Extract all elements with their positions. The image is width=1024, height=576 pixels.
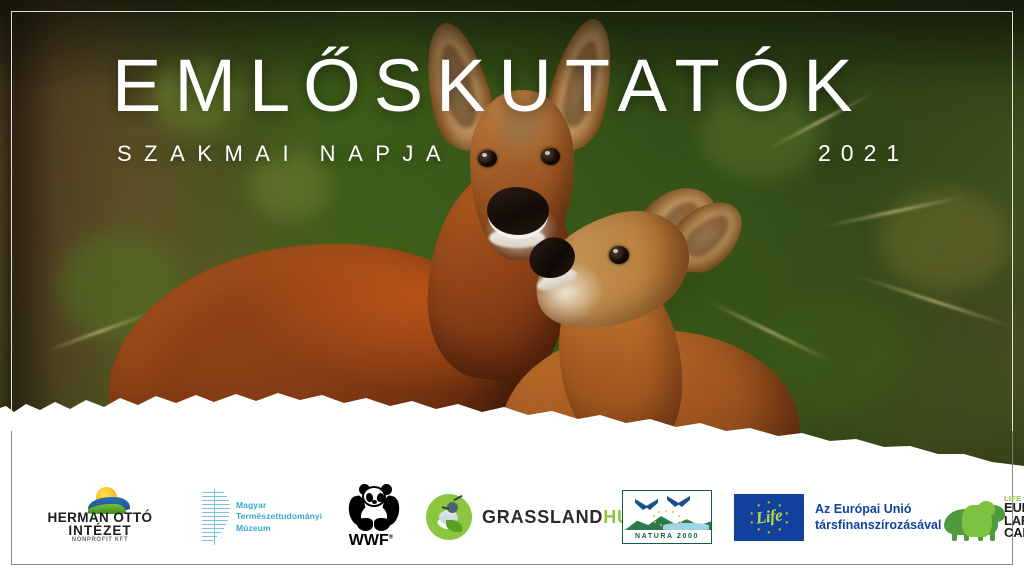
eu-text-line-1: Az Európai Unió bbox=[815, 501, 941, 517]
wwf-letters: WWF bbox=[349, 532, 389, 549]
bird-icon bbox=[635, 499, 659, 511]
logo-line-3: Múzeum bbox=[236, 523, 322, 534]
doe-muzzle bbox=[487, 187, 549, 235]
page-subtitle: SZAKMAI NAPJA bbox=[117, 141, 453, 167]
logo-line-2: Természettudományi bbox=[236, 511, 322, 522]
wwf-wordmark: WWF® bbox=[340, 532, 402, 550]
grassland-word: GRASSLAND bbox=[482, 507, 603, 527]
event-poster: EMLŐSKUTATÓK SZAKMAI NAPJA 2021 HERMAN O… bbox=[0, 0, 1024, 576]
year-label: 2021 bbox=[818, 140, 909, 167]
trademark-symbol: ® bbox=[389, 535, 393, 541]
logo-eu-life-cofunding[interactable]: Life Az Európai Unió társfinanszírozásáv… bbox=[734, 491, 924, 543]
natura-caption: NATURA 2000 bbox=[623, 531, 711, 543]
grassland-wordmark: GRASSLANDHU bbox=[482, 507, 631, 528]
life-wordmark: Life bbox=[755, 505, 784, 528]
logo-wwf[interactable]: WWF® bbox=[340, 484, 402, 550]
logo-herman-otto-intezet[interactable]: HERMAN OTTÓ INTÉZET NONPROFIT KFT bbox=[36, 486, 164, 548]
logo-line-3: NONPROFIT KFT bbox=[36, 537, 164, 543]
partner-logo-bar: HERMAN OTTÓ INTÉZET NONPROFIT KFT bbox=[0, 474, 1024, 560]
page-title: EMLŐSKUTATÓK bbox=[112, 43, 866, 128]
lapwing-bird-icon bbox=[426, 494, 472, 540]
logo-line-1: Magyar bbox=[236, 500, 322, 511]
logo-grassland-hu[interactable]: GRASSLANDHU bbox=[426, 491, 596, 543]
eu-flag-icon: Life bbox=[734, 494, 804, 541]
logo-natura-2000[interactable]: NATURA 2000 bbox=[622, 490, 712, 544]
eu-stars-graphic bbox=[653, 510, 687, 526]
eu-text-line-2: társfinanszírozásával bbox=[815, 517, 941, 533]
panda-icon bbox=[346, 484, 396, 532]
logo-life-euro-large-carnivores[interactable]: LIFE EURO LARGE CARNIVORES bbox=[944, 491, 1024, 543]
doe-right-eye bbox=[541, 148, 560, 165]
bear-wolf-icon bbox=[944, 501, 1006, 541]
fawn-eye bbox=[609, 246, 629, 264]
bird-icon bbox=[667, 496, 691, 508]
logo-magyar-termeszettudomanyi-muzeum[interactable]: Magyar Természettudományi Múzeum bbox=[200, 487, 312, 547]
elc-line-3: CARNIVORES bbox=[1004, 527, 1024, 540]
doe-left-eye bbox=[478, 150, 497, 167]
logo-line-2: INTÉZET bbox=[36, 523, 164, 538]
fern-icon bbox=[200, 489, 230, 545]
